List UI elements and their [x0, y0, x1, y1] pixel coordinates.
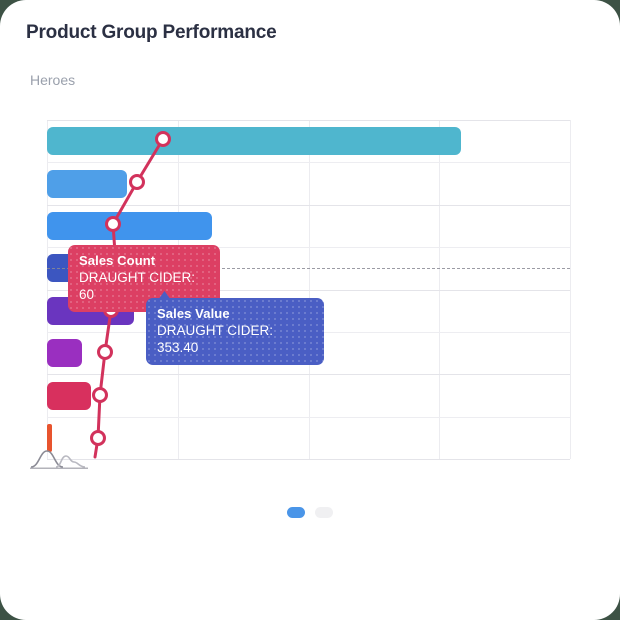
line-marker-2[interactable] — [131, 176, 144, 189]
tooltip-detail: DRAUGHT CIDER: 353.40 — [157, 322, 313, 356]
chart-card: Product Group Performance Heroes Sales C… — [0, 0, 620, 620]
tooltip-heading: Sales Count — [79, 253, 209, 269]
distribution-curve-icon — [30, 448, 88, 470]
pagination[interactable] — [0, 504, 620, 522]
horizontal-gridline — [47, 459, 570, 460]
chart-subtitle: Heroes — [30, 72, 75, 88]
page-title: Product Group Performance — [26, 22, 277, 44]
line-marker-6[interactable] — [99, 346, 112, 359]
line-marker-3[interactable] — [107, 218, 120, 231]
line-marker-7[interactable] — [94, 389, 107, 402]
sales-value-tooltip: Sales Value DRAUGHT CIDER: 353.40 — [146, 298, 324, 365]
line-marker-8[interactable] — [92, 432, 105, 445]
tooltip-heading: Sales Value — [157, 306, 313, 322]
pagination-dot-active[interactable] — [287, 507, 305, 518]
pagination-dot-inactive[interactable] — [315, 507, 333, 518]
line-marker-1[interactable] — [157, 133, 170, 146]
vertical-gridline — [570, 120, 571, 459]
